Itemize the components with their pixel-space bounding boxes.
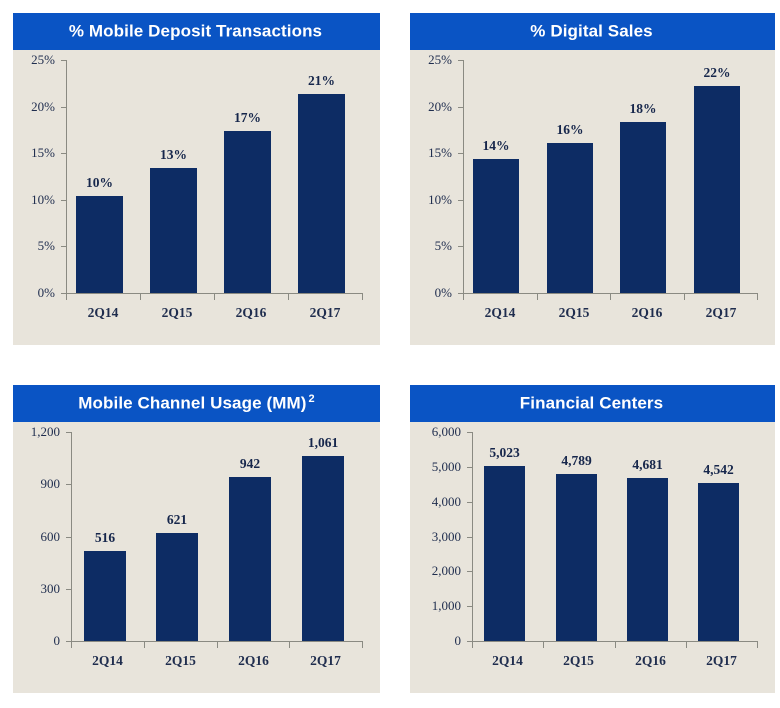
x-axis-tick [362, 642, 363, 648]
bar-chart: 0%5%10%15%20%25%14%2Q1416%2Q1518%2Q1622%… [410, 50, 775, 345]
panel-title-text: % Mobile Deposit Transactions [69, 22, 322, 41]
y-axis-tick-label: 0% [410, 285, 452, 301]
chart-panel-mobile-deposit-transactions: % Mobile Deposit Transactions 0%5%10%15%… [13, 13, 380, 345]
bar-value-label: 21% [280, 73, 363, 89]
y-axis-tick [467, 467, 472, 468]
y-axis-tick [61, 153, 66, 154]
bar-value-label: 4,789 [538, 453, 615, 469]
bar-chart: 03006009001,2005162Q146212Q159422Q161,06… [13, 422, 380, 693]
bar [556, 474, 597, 641]
y-axis-tick-label: 20% [13, 99, 55, 115]
y-axis-tick-label: 900 [13, 476, 60, 492]
y-axis-tick [458, 200, 463, 201]
bar [547, 143, 593, 293]
x-axis-tick [757, 294, 758, 300]
x-axis-category-label: 2Q17 [289, 653, 362, 669]
x-axis-tick [144, 642, 145, 648]
y-axis-tick [467, 432, 472, 433]
bar-value-label: 516 [66, 530, 144, 546]
y-axis-tick-label: 1,000 [410, 598, 461, 614]
x-axis-category-label: 2Q16 [214, 305, 288, 321]
y-axis-tick-label: 4,000 [410, 494, 461, 510]
x-axis-category-label: 2Q14 [71, 653, 144, 669]
y-axis-tick-label: 5,000 [410, 459, 461, 475]
y-axis-tick [467, 606, 472, 607]
chart-panel-mobile-channel-usage: Mobile Channel Usage (MM)2 03006009001,2… [13, 385, 380, 693]
x-axis-category-label: 2Q17 [686, 653, 757, 669]
y-axis-tick [66, 432, 71, 433]
y-axis-tick [61, 246, 66, 247]
y-axis-tick [458, 246, 463, 247]
x-axis-tick [686, 642, 687, 648]
panel-header: Mobile Channel Usage (MM)2 [13, 385, 380, 422]
panel-title-superscript: 2 [309, 393, 315, 405]
y-axis-tick-label: 25% [410, 52, 452, 68]
x-axis-category-label: 2Q15 [537, 305, 611, 321]
bar-value-label: 621 [138, 512, 216, 528]
panel-title: % Digital Sales [530, 21, 654, 42]
bar [229, 477, 271, 641]
panel-body: 03006009001,2005162Q146212Q159422Q161,06… [13, 422, 380, 693]
bar [224, 131, 271, 293]
panel-title: Mobile Channel Usage (MM)2 [78, 393, 314, 414]
x-axis-category-label: 2Q16 [615, 653, 686, 669]
panel-body: 0%5%10%15%20%25%10%2Q1413%2Q1517%2Q1621%… [13, 50, 380, 345]
bar [698, 483, 739, 641]
y-axis-line [472, 432, 473, 642]
x-axis-tick [217, 642, 218, 648]
x-axis-tick [543, 642, 544, 648]
x-axis-tick [472, 642, 473, 648]
bar-value-label: 18% [602, 101, 684, 117]
x-axis-tick [537, 294, 538, 300]
x-axis-tick [610, 294, 611, 300]
bar-value-label: 942 [211, 456, 289, 472]
bar-value-label: 10% [58, 175, 141, 191]
x-axis-category-label: 2Q16 [217, 653, 290, 669]
bar [298, 94, 345, 293]
bar [620, 122, 666, 293]
y-axis-tick-label: 2,000 [410, 563, 461, 579]
bar [84, 551, 126, 641]
x-axis-category-label: 2Q15 [144, 653, 217, 669]
panel-title-text: Financial Centers [520, 394, 663, 413]
y-axis-tick-label: 10% [410, 192, 452, 208]
y-axis-tick-label: 5% [410, 238, 452, 254]
panel-body: 0%5%10%15%20%25%14%2Q1416%2Q1518%2Q1622%… [410, 50, 775, 345]
x-axis-tick [214, 294, 215, 300]
y-axis-tick-label: 15% [410, 145, 452, 161]
y-axis-line [463, 60, 464, 294]
x-axis-tick [288, 294, 289, 300]
bar-value-label: 4,681 [609, 457, 686, 473]
panel-title: Financial Centers [520, 393, 665, 414]
y-axis-tick [66, 589, 71, 590]
x-axis-category-label: 2Q17 [288, 305, 362, 321]
y-axis-tick [458, 107, 463, 108]
y-axis-tick-label: 3,000 [410, 529, 461, 545]
bar [627, 478, 668, 641]
y-axis-tick-label: 25% [13, 52, 55, 68]
y-axis-tick-label: 1,200 [13, 424, 60, 440]
bar-value-label: 17% [206, 110, 289, 126]
y-axis-tick [61, 107, 66, 108]
y-axis-tick-label: 20% [410, 99, 452, 115]
bar [302, 456, 344, 641]
bar [150, 168, 197, 293]
y-axis-tick-label: 15% [13, 145, 55, 161]
panel-title-text: Mobile Channel Usage (MM) [78, 394, 306, 413]
y-axis-tick-label: 0 [410, 633, 461, 649]
x-axis-tick [615, 642, 616, 648]
x-axis-tick [463, 294, 464, 300]
bar [484, 466, 525, 641]
chart-panel-digital-sales: % Digital Sales 0%5%10%15%20%25%14%2Q141… [410, 13, 775, 345]
x-axis-category-label: 2Q14 [66, 305, 140, 321]
x-axis-category-label: 2Q17 [684, 305, 758, 321]
chart-panel-financial-centers: Financial Centers 01,0002,0003,0004,0005… [410, 385, 775, 693]
x-axis-category-label: 2Q16 [610, 305, 684, 321]
panel-header: Financial Centers [410, 385, 775, 422]
y-axis-tick [467, 537, 472, 538]
chart-dashboard: % Mobile Deposit Transactions 0%5%10%15%… [0, 0, 780, 708]
x-axis-category-label: 2Q15 [543, 653, 614, 669]
bar-value-label: 22% [676, 65, 758, 81]
x-axis-category-label: 2Q15 [140, 305, 214, 321]
bar-value-label: 14% [455, 138, 537, 154]
bar-value-label: 4,542 [680, 462, 757, 478]
x-axis-tick [362, 294, 363, 300]
x-axis-tick [757, 642, 758, 648]
y-axis-tick-label: 600 [13, 529, 60, 545]
bar-value-label: 5,023 [466, 445, 543, 461]
y-axis-tick-label: 300 [13, 581, 60, 597]
y-axis-tick [467, 502, 472, 503]
bar-value-label: 16% [529, 122, 611, 138]
y-axis-tick [458, 60, 463, 61]
x-axis-tick [684, 294, 685, 300]
x-axis-tick [289, 642, 290, 648]
panel-header: % Mobile Deposit Transactions [13, 13, 380, 50]
bar [76, 196, 123, 293]
bar-chart: 01,0002,0003,0004,0005,0006,0005,0232Q14… [410, 422, 775, 693]
bar [473, 159, 519, 293]
bar [156, 533, 198, 641]
y-axis-tick [66, 484, 71, 485]
panel-header: % Digital Sales [410, 13, 775, 50]
x-axis-tick [71, 642, 72, 648]
y-axis-tick-label: 10% [13, 192, 55, 208]
y-axis-tick-label: 6,000 [410, 424, 461, 440]
x-axis-tick [66, 294, 67, 300]
x-axis-category-label: 2Q14 [472, 653, 543, 669]
y-axis-tick-label: 0% [13, 285, 55, 301]
x-axis-category-label: 2Q14 [463, 305, 537, 321]
x-axis-tick [140, 294, 141, 300]
y-axis-tick [61, 200, 66, 201]
y-axis-tick-label: 5% [13, 238, 55, 254]
bar-value-label: 1,061 [284, 435, 362, 451]
bar [694, 86, 740, 293]
panel-title: % Mobile Deposit Transactions [69, 21, 324, 42]
y-axis-tick [467, 571, 472, 572]
bar-value-label: 13% [132, 147, 215, 163]
y-axis-tick-label: 0 [13, 633, 60, 649]
panel-title-text: % Digital Sales [530, 22, 652, 41]
panel-body: 01,0002,0003,0004,0005,0006,0005,0232Q14… [410, 422, 775, 693]
y-axis-tick [61, 60, 66, 61]
bar-chart: 0%5%10%15%20%25%10%2Q1413%2Q1517%2Q1621%… [13, 50, 380, 345]
